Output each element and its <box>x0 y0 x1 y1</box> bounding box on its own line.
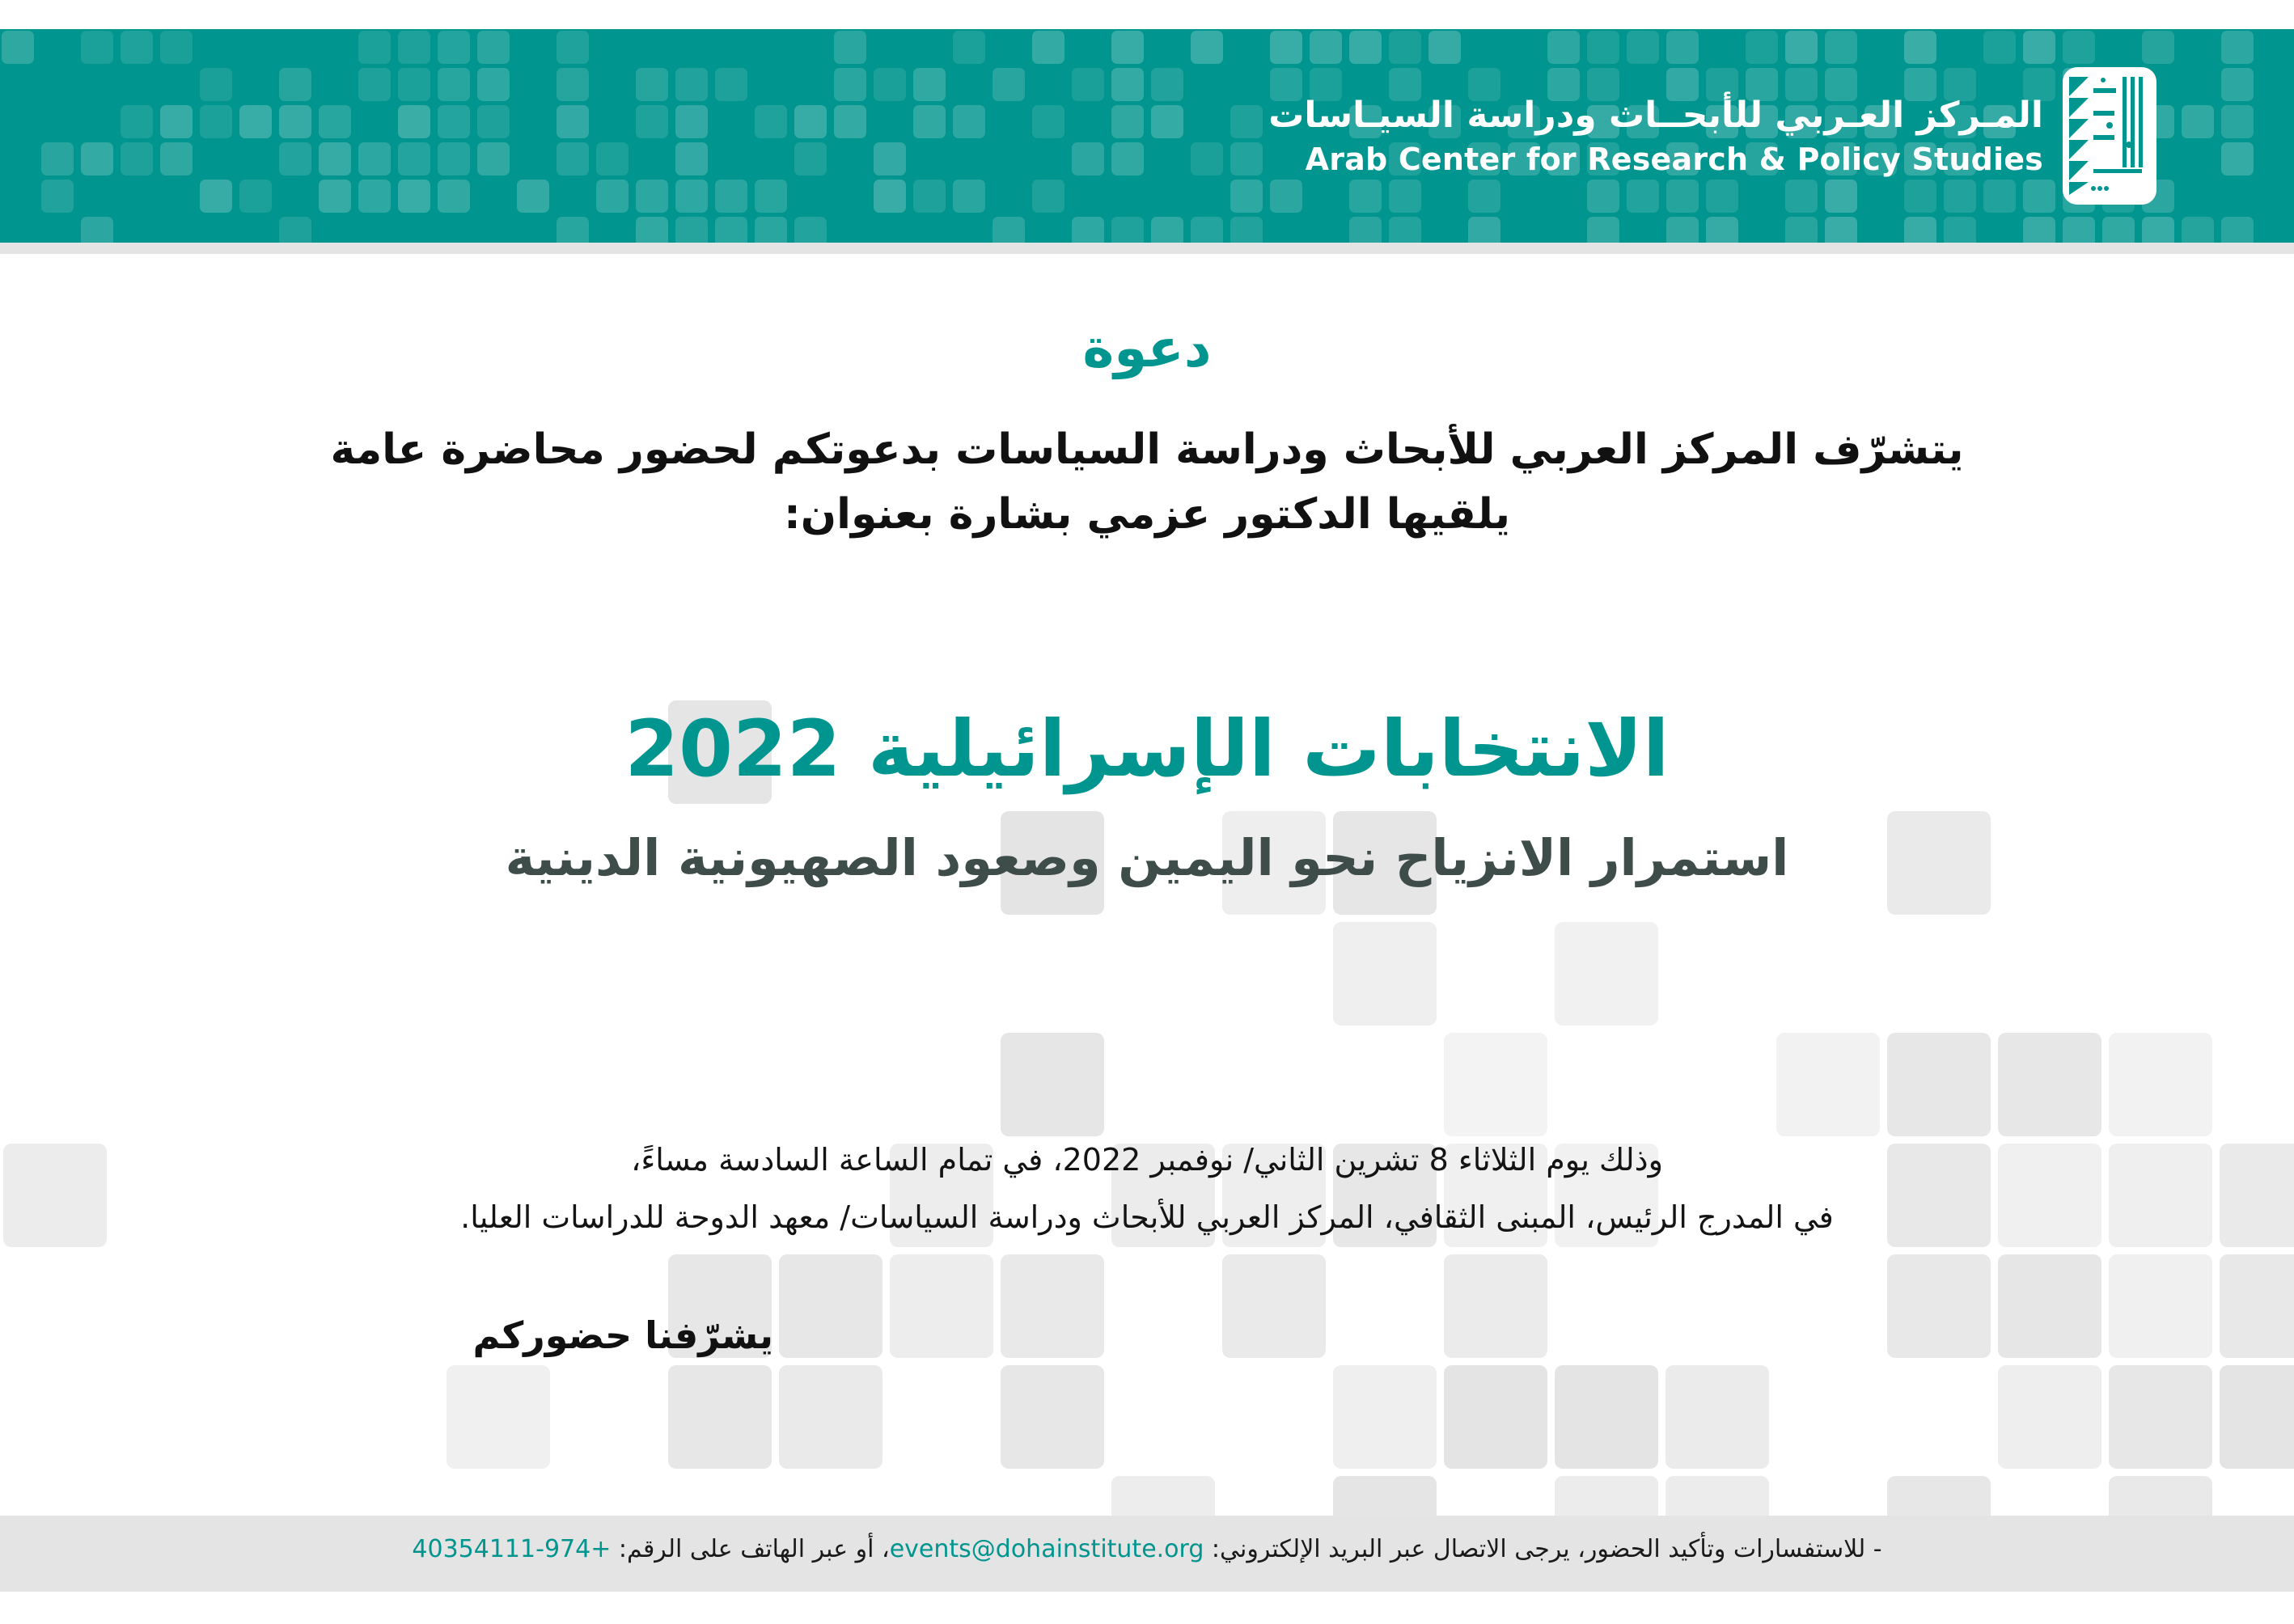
header-brand-lockup: المـركز العـربي للأبحــاث ودراسة السيـاس… <box>1242 29 2294 243</box>
lecture-subtitle: استمرار الانزياح نحو اليمين وصعود الصهيو… <box>0 828 2294 888</box>
header-underline-bar <box>0 243 2294 254</box>
contact-email-link[interactable]: events@dohainstitute.org <box>890 1535 1204 1563</box>
invitation-body: دعوة يتشرّف المركز العربي للأبحاث ودراسة… <box>0 254 2294 1516</box>
invitation-intro: يتشرّف المركز العربي للأبحاث ودراسة السي… <box>129 421 2165 545</box>
footer-prefix-text: - للاستفسارات وتأكيد الحضور، يرجى الاتصا… <box>1204 1535 1881 1563</box>
intro-line-1: يتشرّف المركز العربي للأبحاث ودراسة السي… <box>129 421 2165 480</box>
header-title-english: Arab Center for Research & Policy Studie… <box>1306 141 2043 180</box>
header-wordmark: المـركز العـربي للأبحــاث ودراسة السيـاس… <box>1268 93 2043 180</box>
lecture-title: الانتخابات الإسرائيلية 2022 <box>0 707 2294 793</box>
site-header: المـركز العـربي للأبحــاث ودراسة السيـاس… <box>0 29 2294 243</box>
invitation-kicker: دعوة <box>0 322 2294 375</box>
intro-line-2: يلقيها الدكتور عزمي بشارة بعنوان: <box>129 485 2165 545</box>
acrps-logo-icon <box>2061 66 2158 206</box>
event-details: وذلك يوم الثلاثاء 8 تشرين الثاني/ نوفمبر… <box>97 1136 2197 1242</box>
contact-phone-number[interactable]: +974-40354111 <box>412 1535 611 1563</box>
contact-footer: - للاستفسارات وتأكيد الحضور، يرجى الاتصا… <box>0 1516 2294 1592</box>
event-datetime-line: وذلك يوم الثلاثاء 8 تشرين الثاني/ نوفمبر… <box>97 1136 2197 1185</box>
closing-salutation: يشرّفنا حضوركم <box>472 1313 773 1357</box>
contact-footer-text: - للاستفسارات وتأكيد الحضور، يرجى الاتصا… <box>412 1537 1881 1570</box>
event-venue-line: في المدرج الرئيس، المبنى الثقافي، المركز… <box>97 1193 2197 1242</box>
footer-middle-text: ، أو عبر الهاتف على الرقم: <box>611 1535 889 1563</box>
header-title-arabic: المـركز العـربي للأبحــاث ودراسة السيـاس… <box>1268 93 2043 137</box>
